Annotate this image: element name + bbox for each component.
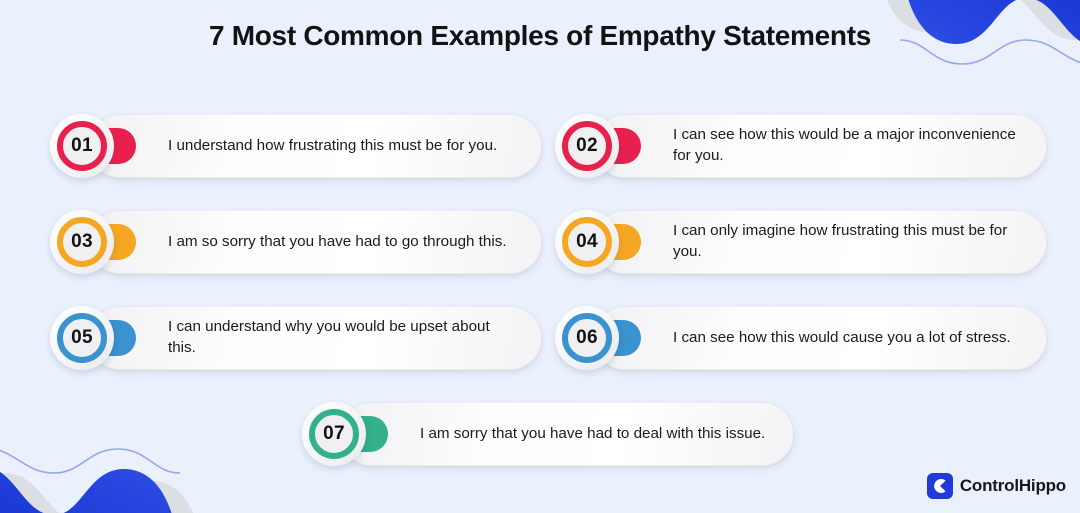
card-number: 04 [576, 231, 598, 253]
number-badge: 04 [555, 210, 619, 274]
card-number: 03 [71, 231, 93, 253]
number-badge: 05 [50, 306, 114, 370]
card-text: I am sorry that you have had to deal wit… [420, 402, 770, 466]
card-number: 01 [71, 135, 93, 157]
number-ring: 03 [57, 217, 107, 267]
blue-wave-blob-bottom-left [0, 427, 214, 513]
statement-card-06[interactable]: 06 I can see how this would cause you a … [555, 306, 1047, 370]
infographic-canvas: 7 Most Common Examples of Empathy Statem… [0, 0, 1080, 513]
number-ring: 05 [57, 313, 107, 363]
card-text: I am so sorry that you have had to go th… [168, 210, 518, 274]
statement-card-02[interactable]: 02 I can see how this would be a major i… [555, 114, 1047, 178]
statement-card-01[interactable]: 01 I understand how frustrating this mus… [50, 114, 542, 178]
controlhippo-c-mark-icon [927, 473, 953, 499]
number-ring: 06 [562, 313, 612, 363]
number-ring: 04 [562, 217, 612, 267]
number-badge: 07 [302, 402, 366, 466]
brand-name: ControlHippo [960, 476, 1066, 496]
number-badge: 06 [555, 306, 619, 370]
number-badge: 02 [555, 114, 619, 178]
card-number: 07 [323, 423, 345, 445]
card-text: I can see how this would cause you a lot… [673, 306, 1023, 370]
number-ring: 01 [57, 121, 107, 171]
blob-outline-wave [0, 447, 180, 473]
statement-card-03[interactable]: 03 I am so sorry that you have had to go… [50, 210, 542, 274]
card-number: 06 [576, 327, 598, 349]
blob-shadow-layer [0, 473, 204, 513]
statement-card-07[interactable]: 07 I am sorry that you have had to deal … [302, 402, 794, 466]
brand-logo[interactable]: ControlHippo [927, 473, 1066, 499]
card-number: 02 [576, 135, 598, 157]
number-badge: 01 [50, 114, 114, 178]
blob-main-layer [0, 465, 180, 513]
card-number: 05 [71, 327, 93, 349]
statement-card-04[interactable]: 04 I can only imagine how frustrating th… [555, 210, 1047, 274]
card-text: I can only imagine how frustrating this … [673, 210, 1023, 274]
card-text: I understand how frustrating this must b… [168, 114, 518, 178]
number-ring: 07 [309, 409, 359, 459]
card-text: I can understand why you would be upset … [168, 306, 518, 370]
number-badge: 03 [50, 210, 114, 274]
statement-card-05[interactable]: 05 I can understand why you would be ups… [50, 306, 542, 370]
page-title: 7 Most Common Examples of Empathy Statem… [0, 20, 1080, 52]
number-ring: 02 [562, 121, 612, 171]
card-text: I can see how this would be a major inco… [673, 114, 1023, 178]
